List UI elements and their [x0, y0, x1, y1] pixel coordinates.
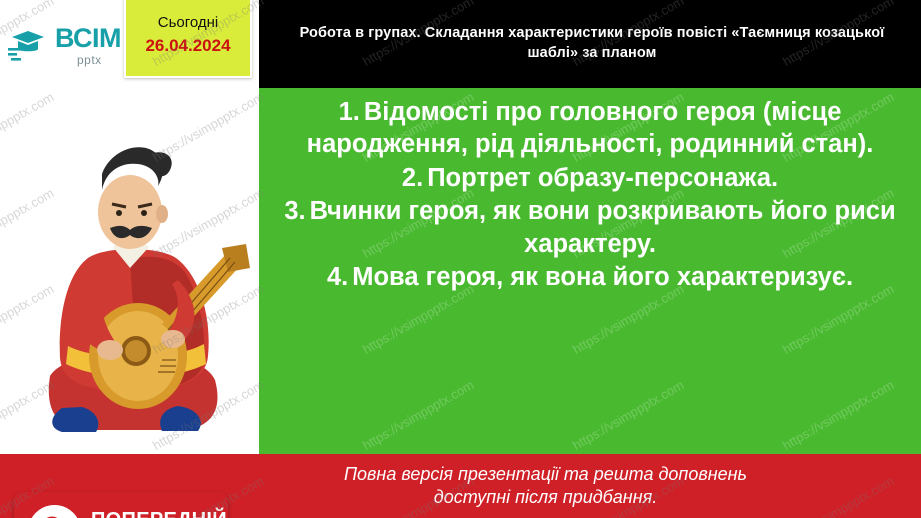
list-item: 2.Портрет образу-персонажа. [281, 162, 899, 194]
list-item: 4.Мова героя, як вона його характеризує. [281, 261, 899, 293]
list-item-text: Портрет образу-персонажа. [427, 164, 778, 192]
list-item-text: Мова героя, як вона його характеризує. [352, 263, 853, 291]
preview-button-label: ПОПЕРЕДНІЙ ПЕРЕГЛЯД [91, 510, 227, 518]
cossack-mamai-with-kobza-illustration [10, 108, 260, 458]
brand-name: ВСІМ [55, 25, 121, 52]
slide-body: 1.Відомості про головного героя (місце н… [0, 88, 921, 518]
slide: Робота в групах. Складання характеристик… [0, 0, 921, 518]
list-item: 1.Відомості про головного героя (місце н… [281, 96, 899, 161]
list-item-text: Відомості про головного героя (місце нар… [307, 98, 874, 158]
list-item-number: 4. [327, 263, 348, 291]
list-item-text: Вчинки героя, як вони розкривають його р… [310, 197, 896, 257]
list-item-number: 1. [339, 98, 360, 126]
magnifier-icon [28, 505, 81, 518]
task-list: 1.Відомості про головного героя (місце н… [281, 96, 899, 293]
slide-header: Робота в групах. Складання характеристик… [0, 0, 921, 88]
brand-logo-text: ВСІМ pptx [55, 25, 121, 66]
purchase-notice-line1: Повна версія презентації та решта доповн… [344, 463, 747, 486]
preview-button[interactable]: ПОПЕРЕДНІЙ ПЕРЕГЛЯД [14, 492, 228, 518]
date-badge-label: Сьогодні [158, 14, 219, 31]
illustration-panel [0, 88, 259, 454]
page-title: Робота в групах. Складання характеристик… [289, 24, 895, 63]
purchase-notice-line2: доступні після придбання. [344, 486, 747, 509]
date-badge-value: 26.04.2024 [145, 36, 230, 56]
tasks-panel: 1.Відомості про головного героя (місце н… [259, 88, 921, 454]
date-badge: Сьогодні 26.04.2024 [124, 0, 252, 78]
list-item: 3.Вчинки героя, як вони розкривають його… [281, 195, 899, 260]
purchase-notice: Повна версія презентації та решта доповн… [174, 463, 747, 509]
preview-button-line1: ПОПЕРЕДНІЙ [91, 510, 227, 518]
graduation-cap-icon [8, 28, 48, 62]
list-item-number: 3. [284, 197, 305, 225]
brand-sub: pptx [77, 54, 121, 66]
header-title-bar: Робота в групах. Складання характеристик… [259, 0, 921, 88]
list-item-number: 2. [402, 164, 423, 192]
